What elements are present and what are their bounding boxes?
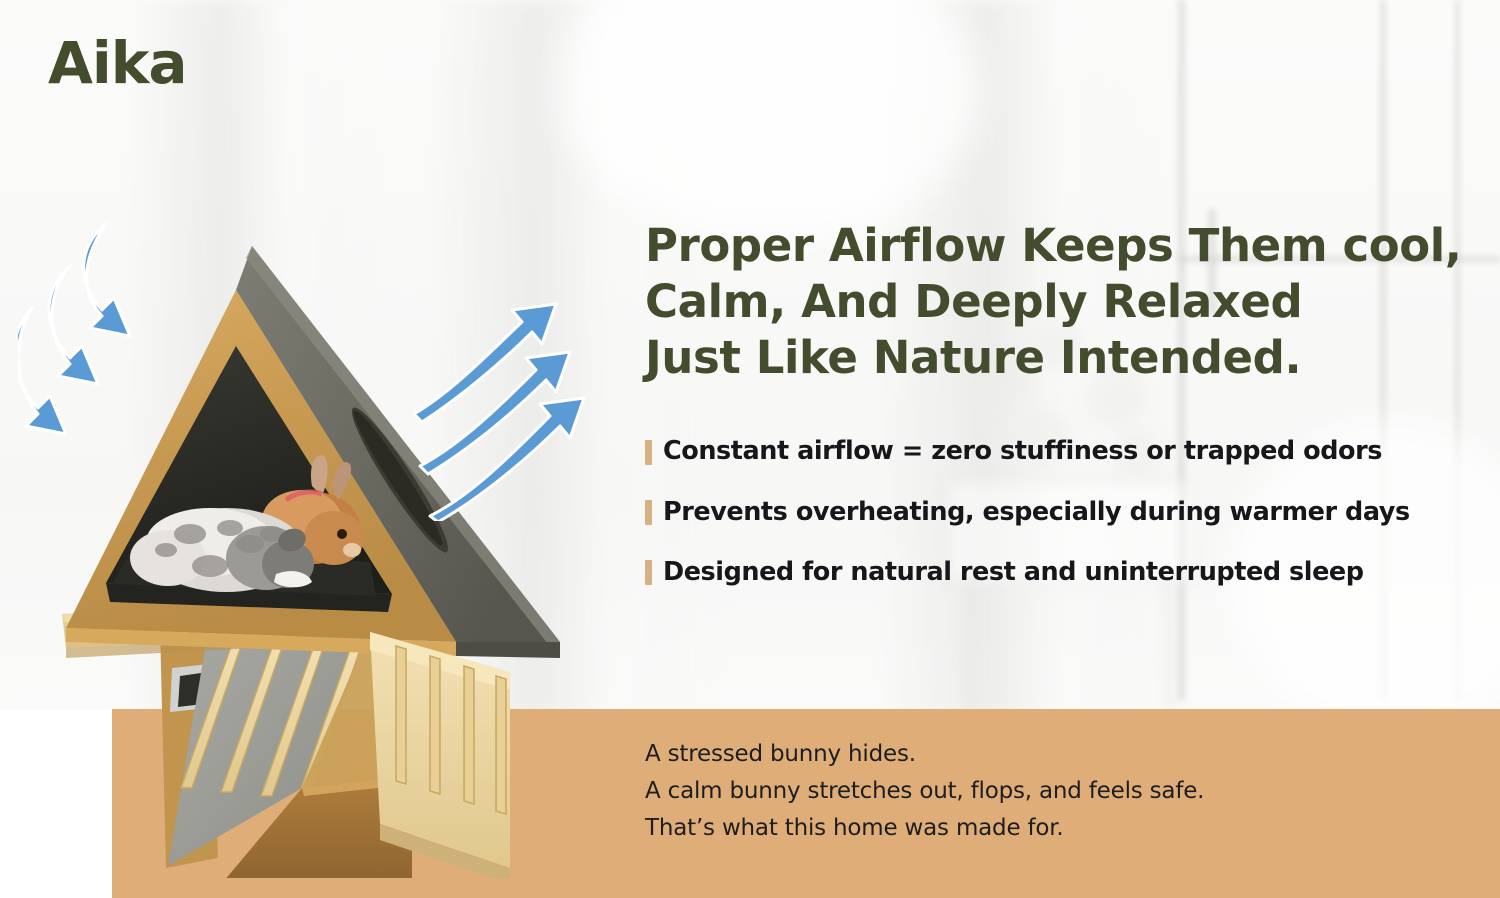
roof-bottom-trim bbox=[456, 642, 560, 658]
list-item: Designed for natural rest and uninterrup… bbox=[645, 558, 1465, 587]
caption-line-1: A stressed bunny hides. bbox=[645, 736, 1204, 773]
page-title: Proper Airflow Keeps Them cool, Calm, An… bbox=[645, 218, 1465, 385]
bullet-label: Prevents overheating, especially during … bbox=[663, 498, 1410, 527]
infographic-canvas: Aika bbox=[0, 0, 1500, 898]
ramp-rung-4 bbox=[496, 676, 506, 814]
a-frame-rabbit-house bbox=[40, 228, 610, 878]
bullet-marker-icon bbox=[645, 500, 652, 525]
copy-column: Proper Airflow Keeps Them cool, Calm, An… bbox=[645, 218, 1465, 587]
orange-rabbit-eye bbox=[337, 529, 347, 539]
ramp-rung-2 bbox=[430, 656, 440, 794]
ramp-rung-3 bbox=[464, 666, 474, 804]
headline-line-2: Calm, And Deeply Relaxed bbox=[645, 274, 1465, 330]
caption-copy: A stressed bunny hides. A calm bunny str… bbox=[645, 736, 1204, 846]
bullet-marker-icon bbox=[645, 560, 652, 585]
list-item: Prevents overheating, especially during … bbox=[645, 498, 1465, 527]
benefit-list: Constant airflow = zero stuffiness or tr… bbox=[645, 437, 1465, 587]
bullet-marker-icon bbox=[645, 440, 652, 465]
list-item: Constant airflow = zero stuffiness or tr… bbox=[645, 437, 1465, 466]
bullet-label: Constant airflow = zero stuffiness or tr… bbox=[663, 437, 1382, 466]
brand-logo: Aika bbox=[48, 34, 186, 92]
pine-ramp bbox=[370, 632, 510, 878]
caption-line-2: A calm bunny stretches out, flops, and f… bbox=[645, 773, 1204, 810]
headline-line-1: Proper Airflow Keeps Them cool, bbox=[645, 218, 1465, 274]
ramp-rung-1 bbox=[396, 646, 406, 784]
house-frame bbox=[66, 246, 560, 658]
caption-line-3: That’s what this home was made for. bbox=[645, 810, 1204, 847]
bullet-label: Designed for natural rest and uninterrup… bbox=[663, 558, 1364, 587]
headline-line-3: Just Like Nature Intended. bbox=[645, 330, 1465, 386]
